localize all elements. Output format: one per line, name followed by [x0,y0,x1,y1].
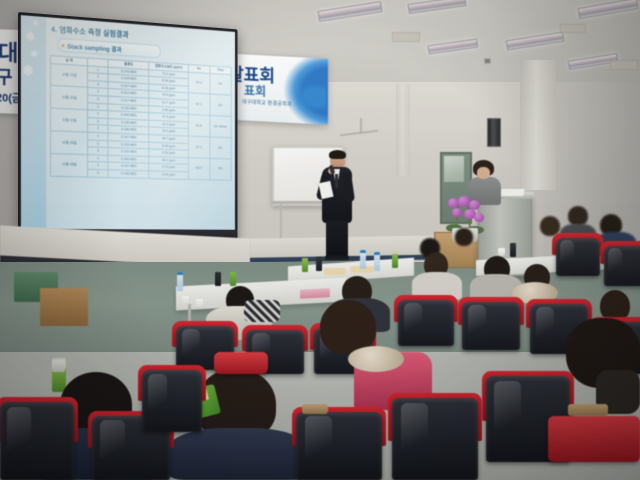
snowflake-icon: ❆ [33,20,39,27]
audience-head [568,206,588,226]
cell-date: 11월 06일 [51,131,88,155]
slide-data-table: 날 짜 흡광도 염화수소농도 (ppm) Xs Time 10월 29일10.2… [50,55,232,180]
orchid-bloom [474,213,484,222]
cell-time: 2hr [210,73,232,95]
wall-column [520,60,556,190]
water-bottle [360,250,366,269]
drink-can [392,254,398,268]
snack-tray [324,268,346,275]
side-table-wood [40,288,88,326]
cell-time: 1hr 40min [210,116,232,138]
banner-right: 발표회 표회 대구대학교 환경공학과 [222,53,328,125]
slide-sidebar-decoration: ❄ ❅ ❄ ❆ [21,15,46,229]
seat-highlight [494,381,521,441]
wall-speaker-icon [487,118,501,147]
presenter-trousers [326,221,348,260]
seat[interactable] [604,246,640,286]
podium-papers [499,189,524,196]
drink-can [316,257,322,271]
seat-highlight [560,240,574,267]
cell-time: 2hr [210,94,232,116]
lecture-hall-photo: 대 구 · 20(금) 발표회 표회 대구대학교 환경공학과 ❄ ❅ ❄ ❆ 4… [0,0,640,480]
armrest [302,404,328,414]
cell-xs: 66.0 [188,157,209,179]
presenter-necktie [335,174,338,188]
table-body: 10월 29일10.276 ABS73.2 ppm49.32hr20.116 A… [51,63,232,180]
cell-xs: 37.1 [188,136,209,158]
cell-time: 2hr [210,137,232,159]
seat-back [296,412,382,480]
drink-can [52,360,65,372]
wall-column [396,84,410,176]
paper-cup [196,299,203,307]
cell-time: 2hr [210,158,232,180]
ceiling-vent [484,58,491,64]
snack-box [300,288,330,299]
banner-right-line3: 대구대학교 환경공학과 [242,98,292,108]
seat-back [392,398,478,480]
podium-person-face [477,167,490,179]
table-leg [188,304,191,322]
cell-date: 11월 02일 [51,108,88,132]
seat-back [142,370,202,432]
seat-cushion [214,352,268,374]
cell-date: 10월 29일 [51,63,88,88]
seat-back [556,238,600,276]
seat[interactable] [556,238,600,276]
drink-can [215,272,221,286]
cell-ppm: 3.93 ppm [149,171,188,179]
slide-subtitle: Stack sampling 결과 [67,41,121,54]
seat-back [0,402,74,480]
seat-cushion [548,416,640,462]
seat[interactable] [142,370,202,432]
drink-can [302,258,308,272]
screen-surface: ❄ ❅ ❄ ❆ 4. 염화수소 측정 실험결과 Stack sampling 결… [21,15,235,230]
snowflake-icon: ❅ [31,50,38,59]
seat-highlight [608,248,622,276]
drink-can [510,243,516,257]
seat-highlight [536,307,555,342]
armrest [568,404,608,416]
snowflake-icon: ❄ [25,30,36,44]
projector-mount-post [360,118,362,134]
ceiling-vent [560,24,586,33]
cell-date: 10월 30일 [51,86,88,110]
fur-hood [348,346,404,372]
audience-body-front [168,428,308,480]
drink-can [230,272,236,286]
seat-highlight [7,407,31,462]
cell-xs: 52.6 [188,115,209,137]
bullet-icon [62,44,65,47]
seat-highlight [404,303,422,335]
door-window [444,156,464,182]
ceiling-vent [610,60,638,70]
audience-head [455,228,473,246]
seat[interactable] [398,300,454,346]
snowflake-icon: ❄ [22,63,34,79]
seat-back [398,300,454,346]
paper-cup [182,296,189,304]
seat[interactable] [0,402,74,480]
water-bottle [177,272,183,291]
projection-screen: ❄ ❅ ❄ ❆ 4. 염화수소 측정 실험결과 Stack sampling 결… [18,12,237,244]
paper-cup [498,248,505,256]
cell-date: 11월 08일 [51,153,88,176]
presenter [316,152,356,260]
audience-scarf [244,300,280,322]
cell-no: 3 [88,169,108,177]
seat[interactable] [296,412,382,480]
presenter-hair [329,150,346,159]
seat-highlight [100,420,125,465]
banner-swoosh-graphic-2 [296,83,326,111]
orchid-bloom [452,208,462,217]
seat-highlight [148,374,167,417]
seat-highlight [305,416,333,464]
seat-back [462,302,520,350]
seat[interactable] [462,302,520,350]
seat-back [604,246,640,286]
seat[interactable] [392,398,478,480]
water-bottle [374,252,380,271]
cell-absorbance: 0.196 ABS [108,170,149,178]
seat-highlight [468,305,487,339]
cell-xs: 67.3 [188,93,209,115]
ceiling-vent [392,32,420,42]
seat-highlight [182,329,201,360]
cell-xs: 49.3 [188,72,209,95]
seat-highlight [401,403,429,460]
banner-right-line2: 표회 [244,81,266,99]
